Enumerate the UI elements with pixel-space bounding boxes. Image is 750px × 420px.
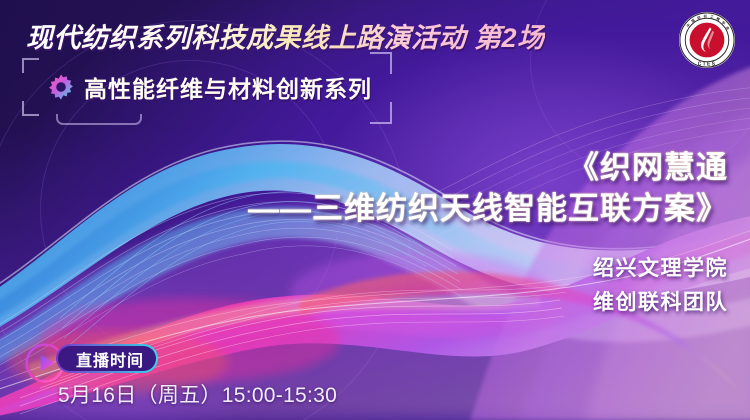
presenter-block: 绍兴文理学院 维创联科团队 bbox=[593, 252, 728, 319]
bracket-bottom-left bbox=[22, 101, 39, 116]
live-datetime: 5月16日（周五）15:00-15:30 bbox=[58, 379, 337, 409]
title-line-2: ——三维纺织天线智能互联方案》 bbox=[248, 189, 728, 230]
bracket-top-right bbox=[370, 52, 392, 74]
subtitle-frame: 高性能纤维与材料创新系列 bbox=[22, 58, 392, 116]
subtitle-text: 高性能纤维与材料创新系列 bbox=[84, 70, 372, 104]
presenter-team: 维创联科团队 bbox=[593, 286, 728, 320]
page-title: 现代纺织系列科技成果线上路演活动 第2场 bbox=[26, 16, 545, 55]
background-glow-right bbox=[600, 220, 750, 420]
live-time-badge: 直播时间 bbox=[56, 344, 158, 373]
title-line-1: 《织网慧通 bbox=[248, 148, 728, 189]
webinar-poster: 现代纺织系列科技成果线上路演活动 第2场 高性能纤维与材料创新系列 bbox=[0, 0, 750, 420]
bracket-top-left bbox=[22, 58, 39, 73]
ctes-logo: 中 国 纺 织 工 程 学 会 CTES bbox=[678, 11, 736, 69]
live-time-label: 直播时间 bbox=[76, 347, 144, 371]
gear-icon bbox=[46, 72, 76, 102]
bracket-bottom-right bbox=[370, 102, 392, 124]
svg-text:CTES: CTES bbox=[698, 61, 716, 67]
bracket-underline bbox=[56, 114, 142, 125]
presentation-title: 《织网慧通 ——三维纺织天线智能互联方案》 bbox=[248, 148, 728, 230]
presenter-organization: 绍兴文理学院 bbox=[593, 252, 728, 286]
